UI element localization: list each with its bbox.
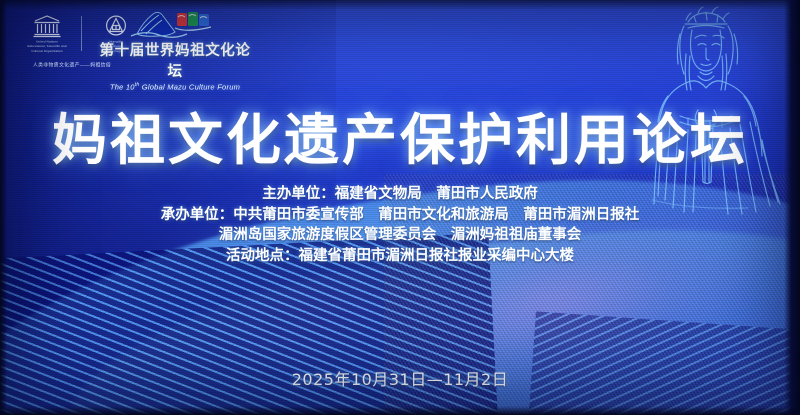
info-row-coorganizer-continued: 湄洲岛国家旅游度假区管理委员会 湄洲妈祖祖庙董事会 <box>0 225 800 246</box>
info-row-coorganizer: 承办单位：中共莆田市委宣传部 莆田市文化和旅游局 莆田市湄洲日报社 <box>0 205 800 226</box>
unesco-temple-icon <box>32 14 62 38</box>
unesco-divider <box>81 16 82 51</box>
screen-left-edge <box>0 0 7 415</box>
forum-title-cn: 第十届世界妈祖文化论坛 <box>95 39 255 81</box>
screen-right-edge <box>784 0 800 415</box>
mazu-wave-emblem-icon <box>95 8 255 38</box>
unesco-org-caption: United Nations Educational, Scientific a… <box>20 40 74 53</box>
main-title: 妈祖文化遗产保护利用论坛 <box>0 113 800 168</box>
event-info-block: 主办单位：福建省文物局 莆田市人民政府 承办单位：中共莆田市委宣传部 莆田市文化… <box>0 184 800 266</box>
unesco-emblem-block: United Nations Educational, Scientific a… <box>24 14 70 51</box>
forum-title-en-prefix: The 10 <box>110 83 135 92</box>
screen-top-edge <box>0 0 800 10</box>
led-banner-screen: United Nations Educational, Scientific a… <box>0 0 800 415</box>
forum-logo: 第十届世界妈祖文化论坛 The 10th Global Mazu Culture… <box>95 8 255 92</box>
info-row-venue: 活动地点：福建省莆田市湄洲日报社报业采编中心大楼 <box>0 246 800 267</box>
event-date: 2025年10月31日—11月2日 <box>0 366 800 390</box>
forum-title-en: The 10th Global Mazu Culture Forum <box>95 82 255 92</box>
screen-bottom-edge <box>0 406 800 415</box>
forum-title-en-rest: Global Mazu Culture Forum <box>139 83 240 92</box>
background-ray-fan-right <box>521 311 800 415</box>
info-row-organizer: 主办单位：福建省文物局 莆田市人民政府 <box>0 184 800 205</box>
